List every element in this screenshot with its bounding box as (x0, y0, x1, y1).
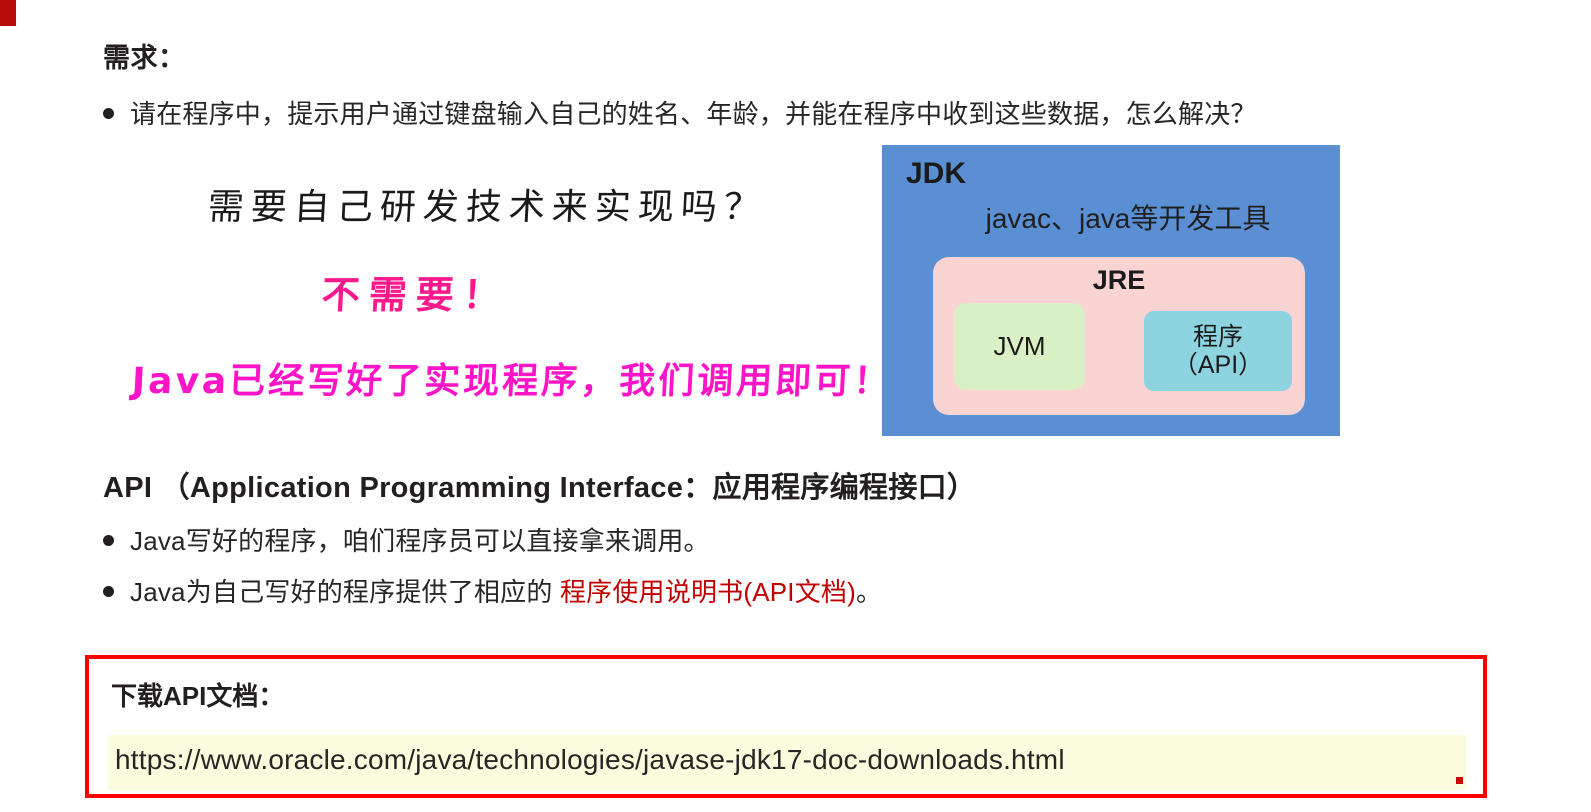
bullet-dot-icon (103, 586, 114, 597)
api-section-heading: API （Application Programming Interface：应… (103, 464, 976, 506)
api-bullet-item-2: Java为自己写好的程序提供了相应的 程序使用说明书(API文档)。 (103, 572, 882, 609)
api-doc-highlight: 程序使用说明书(API文档) (560, 577, 856, 607)
download-url-link[interactable]: https://www.oracle.com/java/technologies… (115, 744, 1065, 776)
api-bullet-text-2: Java为自己写好的程序提供了相应的 程序使用说明书(API文档)。 (130, 572, 882, 609)
url-trailing-dot-marker (1456, 777, 1463, 784)
jdk-subtitle: javac、java等开发工具 (882, 197, 1340, 237)
corner-accent-mark (0, 0, 16, 26)
jvm-container: JVM (954, 303, 1085, 390)
jre-container: JRE JVM 程序 （API） (933, 257, 1305, 415)
jdk-label: JDK (906, 157, 966, 191)
requirement-heading: 需求： (103, 36, 186, 75)
api-label-line2: （API） (1173, 351, 1263, 379)
requirement-bullet-text: 请在程序中，提示用户通过键盘输入自己的姓名、年龄，并能在程序中收到这些数据，怎么… (130, 94, 1257, 131)
bullet-dot-icon (103, 108, 114, 119)
handwriting-question: 需要自己研发技术来实现吗？ (207, 178, 769, 230)
api-label-line1: 程序 (1193, 323, 1243, 351)
api-container: 程序 （API） (1144, 311, 1292, 391)
jdk-diagram: JDK javac、java等开发工具 JRE JVM 程序 （API） (882, 145, 1340, 436)
handwriting-answer: 不需要！ (321, 264, 512, 319)
download-api-doc-box: 下载API文档： https://www.oracle.com/java/tec… (85, 655, 1487, 798)
jvm-label: JVM (994, 331, 1046, 362)
api-bullet-2-prefix: Java为自己写好的程序提供了相应的 (130, 577, 560, 607)
download-title: 下载API文档： (111, 676, 284, 713)
requirement-bullet-item: 请在程序中，提示用户通过键盘输入自己的姓名、年龄，并能在程序中收到这些数据，怎么… (103, 94, 1257, 131)
handwriting-conclusion: Java已经写好了实现程序，我们调用即可！ (131, 352, 894, 404)
bullet-dot-icon (103, 535, 114, 546)
api-bullet-item-1: Java写好的程序，咱们程序员可以直接拿来调用。 (103, 521, 710, 558)
jre-label: JRE (933, 265, 1305, 296)
api-bullet-2-suffix: 。 (856, 577, 882, 607)
api-bullet-text-1: Java写好的程序，咱们程序员可以直接拿来调用。 (130, 521, 710, 558)
